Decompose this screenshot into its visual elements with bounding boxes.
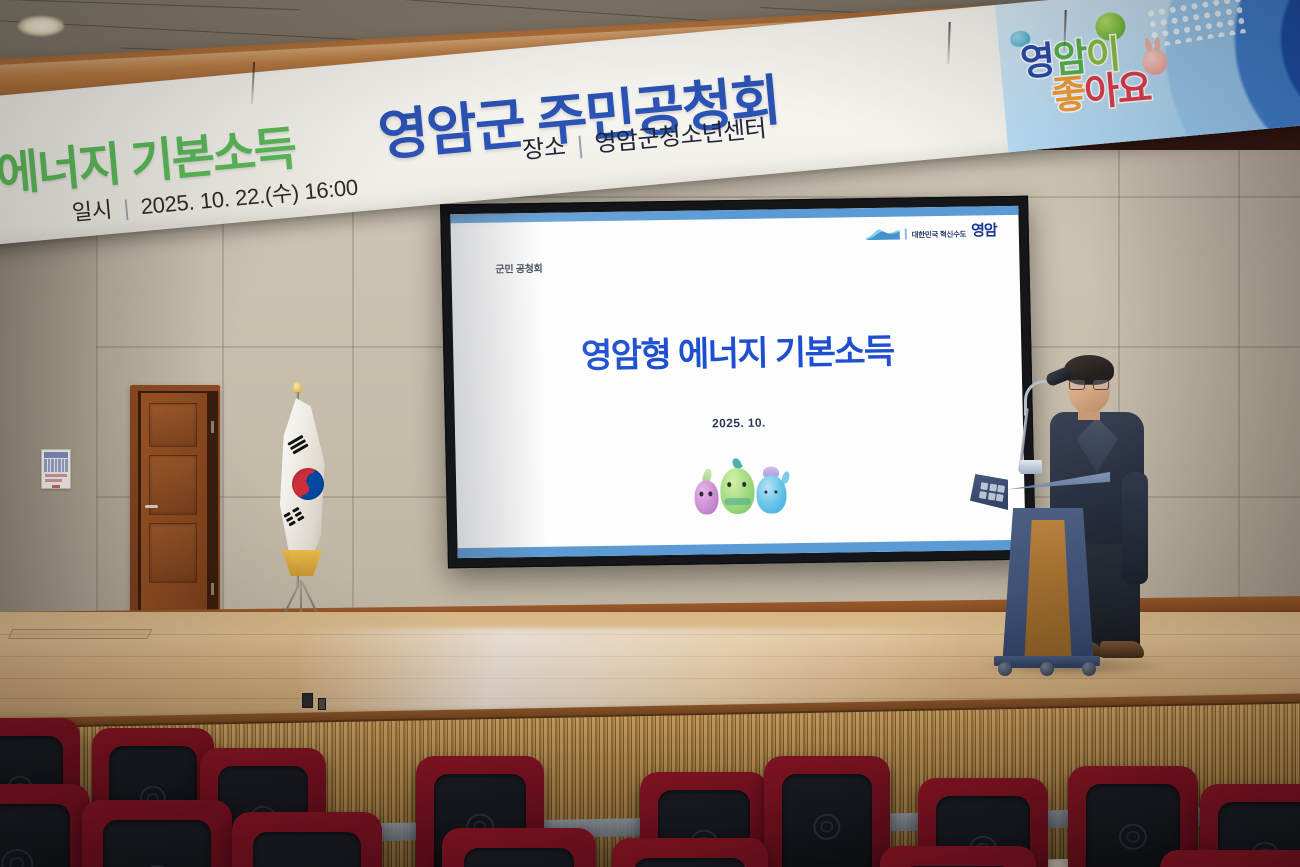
auditorium-photo: 대한민국 혁신수도 영암 군민 공청회 영암형 에너지 기본소득 2025. 1… bbox=[0, 0, 1300, 867]
slide-eyebrow: 군민 공청회 bbox=[495, 260, 542, 276]
audience-seat[interactable] bbox=[442, 828, 596, 867]
stage-door[interactable] bbox=[130, 385, 220, 612]
glasses-icon bbox=[1068, 380, 1110, 390]
slide-mascot-group bbox=[456, 464, 1025, 518]
banner-place-value: 영암군청소년센터 bbox=[594, 115, 768, 157]
podium-body bbox=[1002, 508, 1094, 668]
ceiling-light bbox=[18, 16, 64, 36]
podium-caster bbox=[998, 662, 1012, 676]
banner-place-label: 장소 bbox=[521, 134, 566, 165]
blue-round-mascot bbox=[756, 475, 787, 513]
wall-notice-poster bbox=[41, 449, 71, 489]
purple-rabbit-mascot bbox=[694, 480, 719, 514]
podium-device bbox=[1020, 460, 1042, 474]
audience-seat[interactable] bbox=[612, 838, 768, 867]
door-handle[interactable] bbox=[145, 505, 158, 508]
slogan-line-2: 좋아요 bbox=[1050, 69, 1152, 116]
slogan-char: 좋 bbox=[1050, 73, 1087, 118]
logo-wordmark: 영암 bbox=[971, 223, 997, 238]
flag-fringe bbox=[274, 550, 330, 576]
audience-seat[interactable] bbox=[82, 800, 232, 867]
audience-seat[interactable] bbox=[0, 784, 90, 867]
logo-divider bbox=[905, 228, 907, 239]
slide-date: 2025. 10. bbox=[455, 412, 1023, 434]
speaker-arm bbox=[1122, 472, 1148, 584]
podium-caster bbox=[1040, 662, 1054, 676]
audience-seating bbox=[0, 700, 1300, 867]
audience-seat[interactable] bbox=[1160, 850, 1300, 867]
slogan-char: 아요 bbox=[1083, 67, 1152, 115]
green-frog-mascot bbox=[720, 468, 755, 514]
audience-seat[interactable] bbox=[764, 756, 890, 867]
slide-bottom-bar bbox=[458, 540, 1026, 558]
audience-seat[interactable] bbox=[880, 846, 1036, 867]
banner-separator: | bbox=[570, 131, 590, 159]
banner-separator: | bbox=[116, 195, 136, 221]
slide-top-bar bbox=[450, 206, 1018, 223]
logo-subtitle: 대한민국 혁신수도 bbox=[912, 230, 967, 239]
presentation-slide: 대한민국 혁신수도 영암 군민 공청회 영암형 에너지 기본소득 2025. 1… bbox=[450, 206, 1025, 558]
banner-date-label: 일시 bbox=[71, 197, 113, 226]
projection-screen: 대한민국 혁신수도 영암 군민 공청회 영암형 에너지 기본소득 2025. 1… bbox=[440, 196, 1036, 569]
yeongam-slogan-logo: 영암이 좋아요 bbox=[1009, 9, 1204, 133]
yeongam-logo: 대한민국 혁신수도 영암 bbox=[866, 223, 997, 240]
slide-title: 영암형 에너지 기본소득 bbox=[453, 322, 1022, 379]
podium-caster bbox=[1082, 662, 1096, 676]
korean-flag bbox=[248, 382, 358, 632]
mountain-wave-icon bbox=[866, 226, 900, 241]
audience-seat[interactable] bbox=[232, 812, 382, 867]
podium bbox=[984, 466, 1110, 668]
stage-floor-hatch bbox=[8, 629, 153, 639]
podium-wood-panel bbox=[1024, 520, 1072, 666]
